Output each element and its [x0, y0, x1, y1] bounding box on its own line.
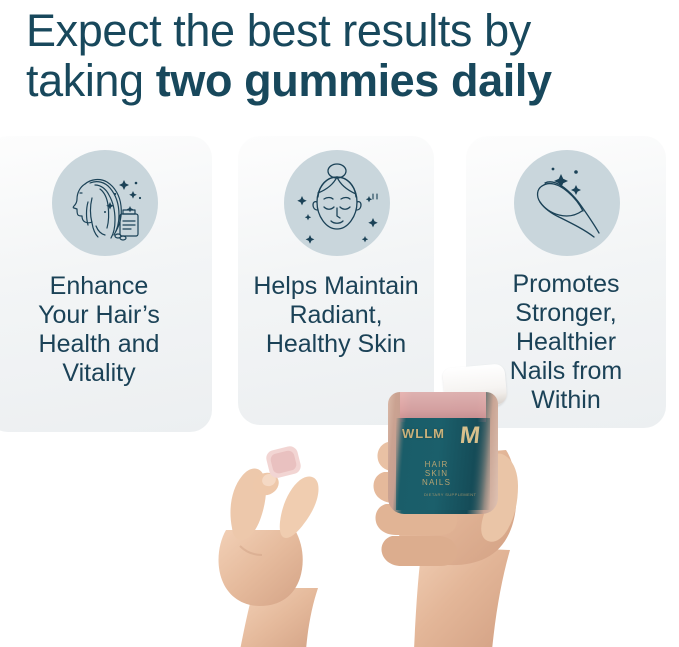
label-line-hair: HAIR: [425, 460, 449, 469]
hand-holding-gummy: [196, 438, 372, 647]
hair-line-1: Enhance: [50, 272, 149, 300]
feature-card-skin: Helps Maintain Radiant, Healthy Skin: [238, 136, 434, 425]
hair-line-2: Your Hair’s: [38, 301, 160, 329]
feature-card-hair: Enhance Your Hair’s Health and Vitality: [0, 136, 212, 432]
headline-line-2-normal: taking: [26, 55, 156, 106]
nails-line-1: Promotes: [513, 270, 620, 298]
nails-line-4: Nails from: [510, 357, 623, 385]
face-glow-icon: [284, 150, 390, 256]
label-line-nails: NAILS: [422, 478, 451, 487]
skin-line-3: Healthy Skin: [266, 330, 406, 358]
nails-line-2: Stronger,: [515, 299, 616, 327]
label-product-type: HAIR SKIN NAILS: [422, 460, 451, 487]
feature-card-nails: Promotes Stronger, Healthier Nails from …: [466, 136, 666, 428]
nails-line-5: Within: [531, 386, 600, 414]
headline-line-2: taking two gummies daily: [26, 56, 666, 106]
fingernail-sparkle-icon: [514, 150, 620, 256]
page-title: Expect the best results by taking two gu…: [26, 6, 666, 106]
label-line-skin: SKIN: [425, 469, 448, 478]
feature-card-hair-label: Enhance Your Hair’s Health and Vitality: [0, 272, 212, 388]
feature-card-nails-label: Promotes Stronger, Healthier Nails from …: [466, 270, 666, 415]
headline-line-2-bold: two gummies daily: [156, 55, 552, 106]
skin-line-2: Radiant,: [289, 301, 382, 329]
feature-card-skin-label: Helps Maintain Radiant, Healthy Skin: [238, 272, 434, 359]
hair-line-4: Vitality: [62, 359, 135, 387]
hair-line-3: Health and: [39, 330, 160, 358]
promo-image: Expect the best results by taking two gu…: [0, 0, 679, 647]
hair-sparkle-icon: [52, 150, 158, 256]
skin-line-1: Helps Maintain: [253, 272, 418, 300]
label-subtitle: DIETARY SUPPLEMENT: [424, 492, 476, 497]
nails-line-3: Healthier: [516, 328, 616, 356]
headline-line-1: Expect the best results by: [26, 6, 666, 56]
feature-card-row: Enhance Your Hair’s Health and Vitality: [0, 136, 679, 436]
